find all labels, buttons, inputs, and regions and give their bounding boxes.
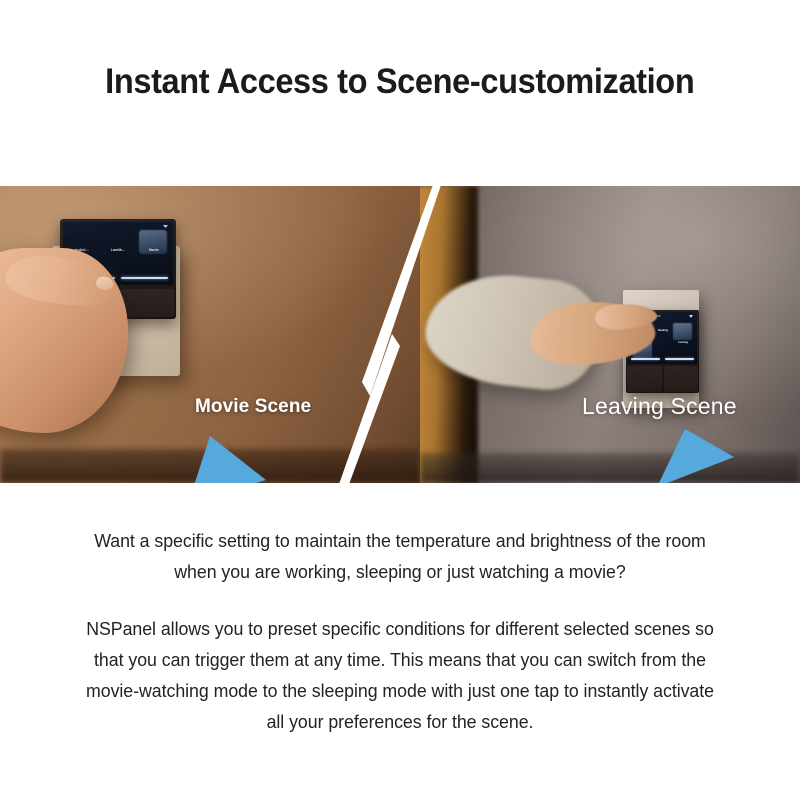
right-physical-button-1[interactable]: [627, 366, 662, 392]
title-band: Instant Access to Scene-customization: [0, 0, 800, 186]
left-fingernail: [95, 275, 114, 290]
leaving-scene-arrow-icon: [655, 429, 735, 483]
right-selected-scene-tile[interactable]: [673, 323, 692, 340]
movie-scene-label: Movie Scene: [195, 396, 311, 418]
hero-photo-band: turbid... Lowlih... Movie: [0, 186, 800, 483]
marketing-page: Instant Access to Scene-customization tu…: [0, 0, 800, 800]
wifi-icon: [689, 315, 693, 318]
leaving-scene-label: Leaving Scene: [582, 393, 737, 420]
right-physical-button-row: [627, 366, 698, 392]
movie-scene-arrow-icon: [188, 434, 268, 483]
body-copy: Want a specific setting to maintain the …: [0, 483, 800, 800]
left-hand: [0, 248, 128, 433]
right-scene-tile-label-2[interactable]: Reading: [653, 329, 673, 332]
color-temp-slider[interactable]: [665, 358, 694, 360]
wifi-icon: [163, 225, 168, 228]
right-physical-button-2[interactable]: [664, 366, 699, 392]
body-paragraph-1: Want a specific setting to maintain the …: [85, 525, 715, 587]
right-slider-row: [631, 358, 694, 360]
left-scene-tile-label-2[interactable]: Lowlih...: [103, 248, 133, 252]
right-floor-shadow: [420, 453, 800, 483]
right-scene-photo: 22:18 24°C Sleeping Reading Leaving: [420, 186, 800, 483]
brightness-slider[interactable]: [631, 358, 660, 360]
left-physical-button-2[interactable]: [119, 289, 174, 317]
color-temp-slider[interactable]: [121, 277, 168, 279]
page-title: Instant Access to Scene-customization: [105, 62, 694, 102]
body-paragraph-2: NSPanel allows you to preset specific co…: [85, 613, 715, 737]
left-scene-tile-label-3[interactable]: Movie: [139, 248, 169, 252]
right-scene-tile-label-3[interactable]: Leaving: [673, 341, 693, 344]
